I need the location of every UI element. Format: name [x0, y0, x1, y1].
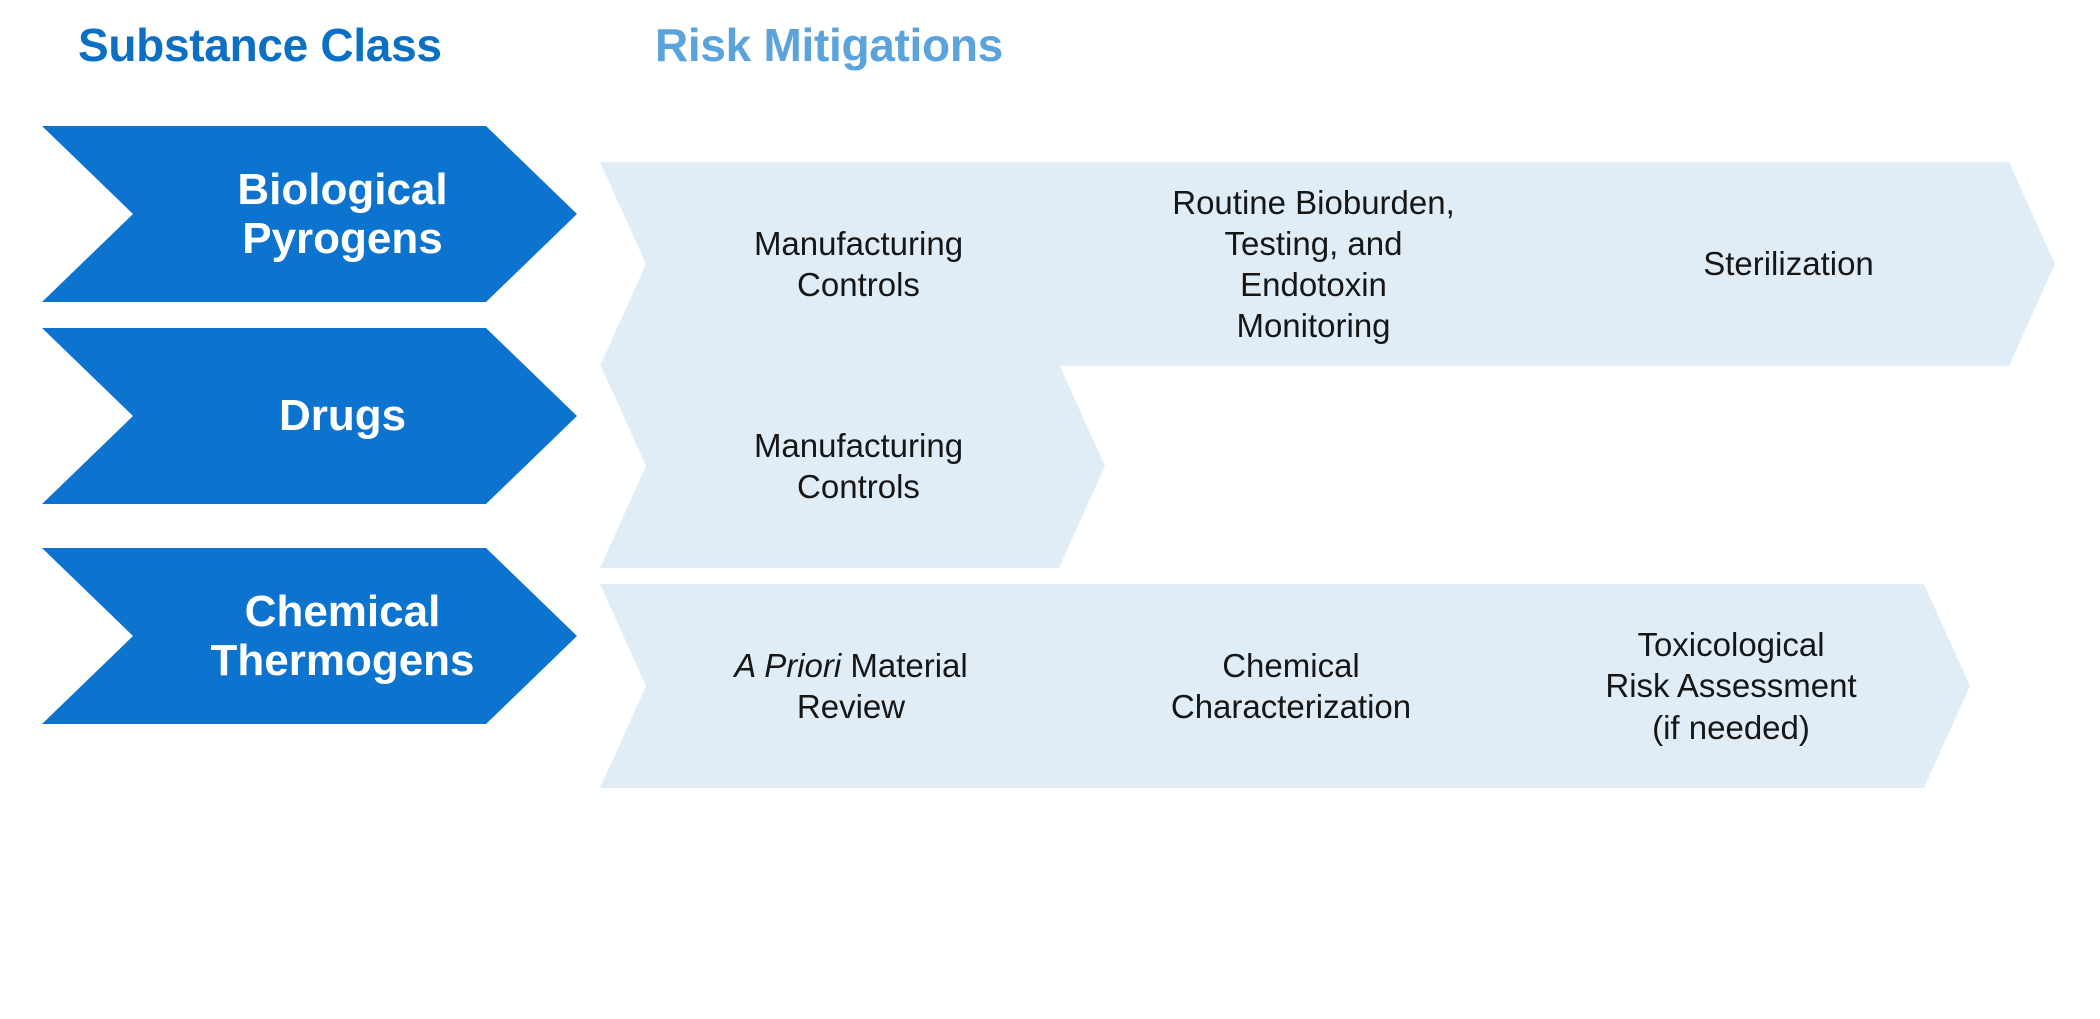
diagram-row-chemical-thermogens: Chemical Thermogens A Priori Material Re…: [0, 548, 2100, 724]
page-title-risk-mitigations: Risk Mitigations: [655, 22, 1003, 68]
mitigation-label: Manufacturing Controls: [708, 223, 997, 306]
mitigation-chevron[interactable]: A Priori Material Review: [600, 584, 1090, 788]
mitigation-chevron[interactable]: Chemical Characterization: [1040, 584, 1530, 788]
mitigation-label: Manufacturing Controls: [708, 425, 997, 508]
mitigation-label: A Priori Material Review: [688, 645, 1002, 728]
mitigation-chevron-group: A Priori Material Review Chemical Charac…: [0, 584, 2100, 788]
diagram-row-biological-pyrogens: Biological Pyrogens Manufacturing Contro…: [0, 126, 2100, 302]
mitigation-label: Routine Bioburden, Testing, and Endotoxi…: [1126, 182, 1489, 347]
mitigation-label: Chemical Characterization: [1125, 645, 1445, 728]
header-bar: Substance Class Risk Mitigations: [0, 0, 2100, 110]
page-title-substance-class: Substance Class: [78, 22, 442, 68]
mitigation-label: Sterilization: [1657, 243, 1908, 284]
diagram-row-drugs: Drugs Manufacturing Controls: [0, 328, 2100, 504]
mitigation-chevron-group: Manufacturing Controls: [0, 364, 2100, 568]
mitigation-label: Toxicological Risk Assessment (if needed…: [1559, 624, 1890, 748]
mitigation-chevron[interactable]: Toxicological Risk Assessment (if needed…: [1480, 584, 1970, 788]
mitigation-chevron[interactable]: Manufacturing Controls: [600, 364, 1105, 568]
